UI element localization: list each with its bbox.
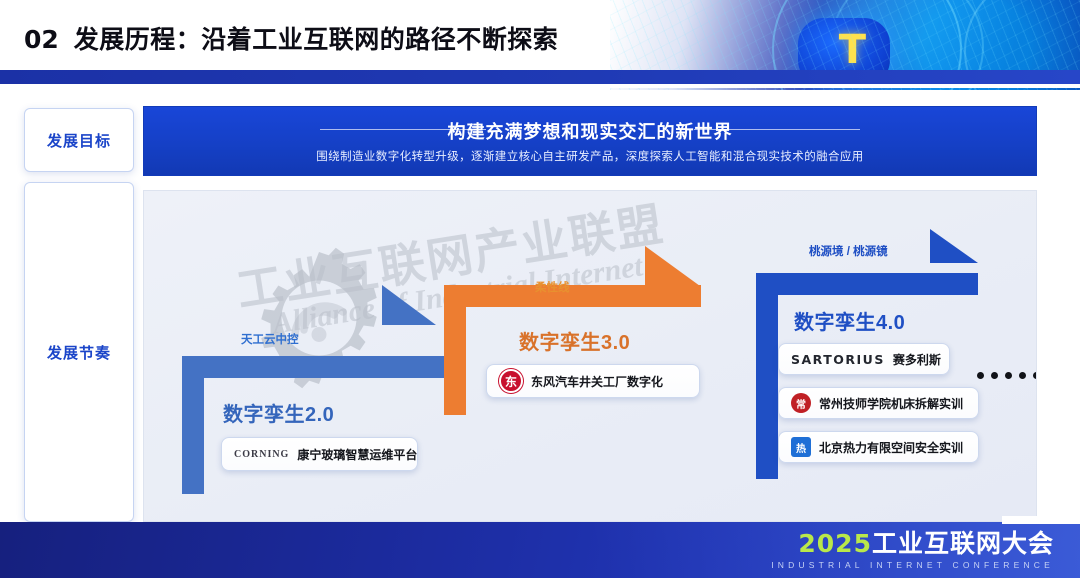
roadmap-canvas: 工业互联网产业联盟 Alliance of Industrial Interne…: [143, 190, 1037, 522]
step-4-card-changzhou[interactable]: 常 常州技师学院机床拆解实训: [778, 387, 979, 419]
t-logo-icon: T: [839, 30, 866, 70]
step-2-card-corning[interactable]: CORNING 康宁玻璃智慧运维平台: [221, 437, 418, 471]
step-3-bracket-left: [444, 285, 466, 415]
card-label: 赛多利斯: [893, 351, 941, 368]
card-label: 常州技师学院机床拆解实训: [819, 395, 963, 412]
corning-logo-icon: CORNING: [234, 449, 289, 460]
step-2-bracket-top: [182, 356, 450, 378]
continuation-dot: [1019, 372, 1026, 379]
conference-name-en: INDUSTRIAL INTERNET CONFERENCE: [771, 560, 1054, 570]
step-4-bracket-top: [756, 273, 978, 295]
step-3-bracket-top: [444, 285, 701, 307]
step-2-bracket-left: [182, 356, 204, 494]
sidebar-item-label: 发展目标: [47, 130, 111, 151]
step-2-triangle-accent: [382, 285, 436, 325]
step-3-title: 数字孪生3.0: [519, 326, 630, 355]
changzhou-logo-icon: 常: [791, 393, 811, 413]
slide-root: T 02 发展历程：沿着工业互联网的路径不断探索 发展目标 发展节奏 构建充满梦…: [0, 0, 1080, 578]
sidebar-item-rhythm[interactable]: 发展节奏: [24, 182, 134, 522]
step-4-card-beijing[interactable]: 热 北京热力有限空间安全实训: [778, 431, 979, 463]
dongfeng-logo-icon: 东: [499, 369, 523, 393]
card-label: 康宁玻璃智慧运维平台: [297, 446, 417, 463]
header-rule-white: [0, 84, 1080, 88]
goal-banner: 构建充满梦想和现实交汇的新世界 围绕制造业数字化转型升级，逐渐建立核心自主研发产…: [143, 106, 1037, 176]
banner-title: 构建充满梦想和现实交汇的新世界: [144, 118, 1036, 144]
continuation-dot: [991, 372, 998, 379]
step-4-card-sartorius[interactable]: SARTORIUS 赛多利斯: [778, 343, 950, 375]
card-label: 东风汽车井关工厂数字化: [531, 373, 663, 390]
beijing-logo-icon: 热: [791, 437, 811, 457]
footer-notch: [1002, 516, 1080, 524]
slide-header: T 02 发展历程：沿着工业互联网的路径不断探索: [0, 0, 1080, 90]
step-4-triangle-accent: [930, 229, 978, 263]
slide-footer: 2025工业互联网大会 INDUSTRIAL INTERNET CONFEREN…: [0, 522, 1080, 578]
step-3-tag: 柔性线: [535, 279, 570, 295]
step-3-card-dongfeng[interactable]: 东 东风汽车井关工厂数字化: [486, 364, 700, 398]
continuation-dot: [1005, 372, 1012, 379]
conference-year: 2025: [798, 529, 872, 558]
banner-subtitle: 围绕制造业数字化转型升级，逐渐建立核心自主研发产品，深度探索人工智能和混合现实技…: [144, 148, 1036, 164]
continuation-dots: [977, 372, 1037, 379]
continuation-dot: [977, 372, 984, 379]
sidebar-item-label: 发展节奏: [47, 342, 111, 363]
sidebar-item-goal[interactable]: 发展目标: [24, 108, 134, 172]
step-3-triangle-accent: [645, 246, 700, 286]
section-number: 02: [24, 25, 59, 54]
continuation-dot: [1033, 372, 1037, 379]
sartorius-logo-icon: SARTORIUS: [791, 352, 885, 367]
step-4-bracket-left: [756, 273, 778, 479]
step-4-tag: 桃源境 / 桃源镜: [809, 243, 888, 259]
page-title: 02 发展历程：沿着工业互联网的路径不断探索: [24, 20, 558, 56]
step-4-title: 数字孪生4.0: [794, 306, 905, 335]
header-rule: [0, 70, 1080, 84]
page-title-text: 发展历程：沿着工业互联网的路径不断探索: [74, 26, 559, 54]
conference-logo: 2025工业互联网大会 INDUSTRIAL INTERNET CONFEREN…: [771, 530, 1054, 570]
step-2-tag: 天工云中控: [241, 331, 299, 347]
conference-name-cn: 工业互联网大会: [872, 530, 1054, 558]
card-label: 北京热力有限空间安全实训: [819, 439, 963, 456]
step-2-title: 数字孪生2.0: [223, 398, 334, 427]
